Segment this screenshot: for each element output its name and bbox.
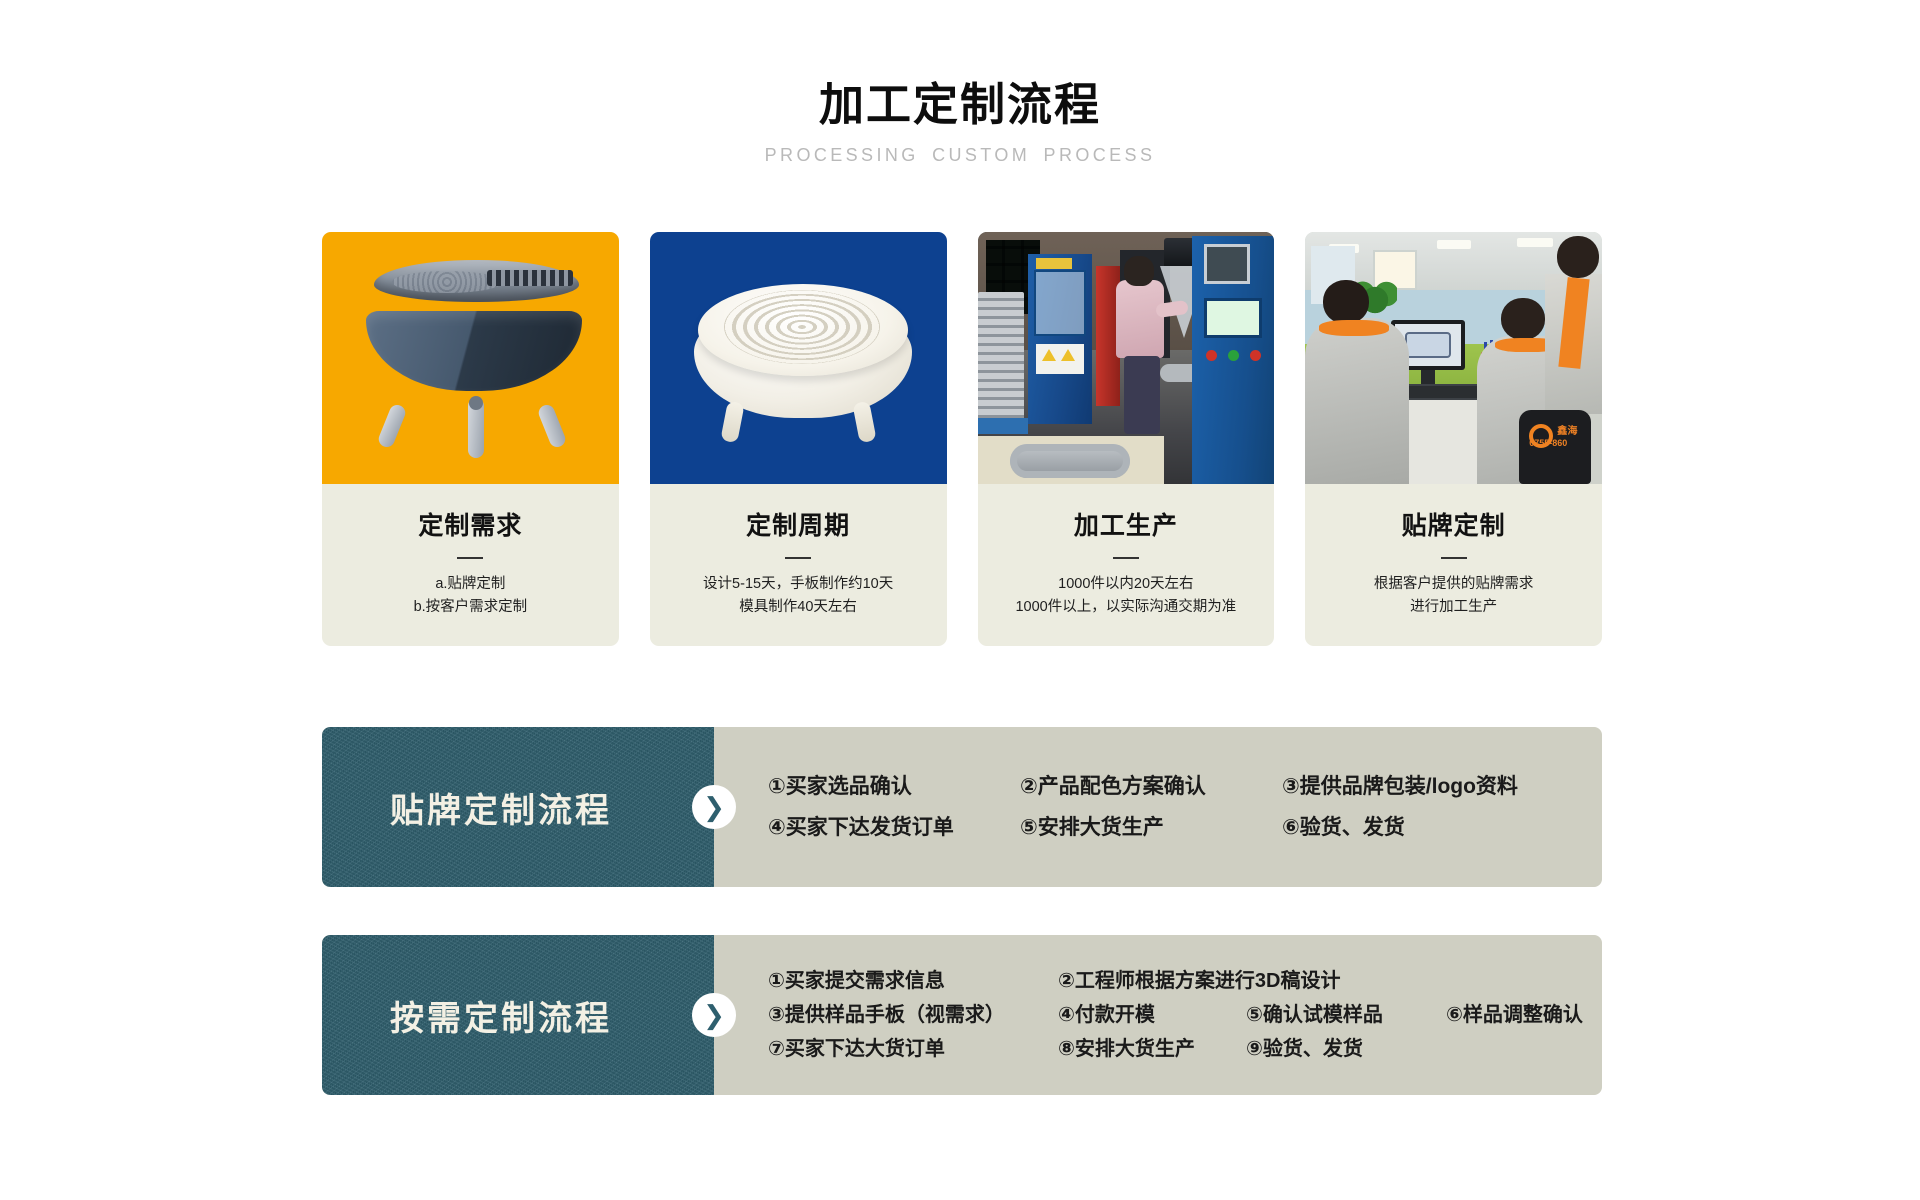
card-description-line: b.按客户需求定制 xyxy=(332,596,609,619)
card-title: 定制需求 xyxy=(332,506,609,542)
card-divider xyxy=(785,557,811,559)
factory-panel-button-green xyxy=(1228,350,1239,361)
ondemand-step-2: ②工程师根据方案进行3D稿设计 xyxy=(1058,964,1341,998)
oem-step-5: ⑤安排大货生产 xyxy=(1020,807,1282,848)
oem-process-banner: 贴牌定制流程 ❯ ①买家选品确认 ②产品配色方案确认 ③提供品牌包装/logo资… xyxy=(322,727,1602,887)
grill-lid-shape xyxy=(374,260,579,302)
watermark-phone: 0755-860 xyxy=(1529,438,1567,448)
ondemand-step-6: ⑥样品调整确认 xyxy=(1446,998,1583,1032)
ondemand-step-row: ①买家提交需求信息 ②工程师根据方案进行3D稿设计 xyxy=(768,964,1602,998)
card-description-line: 根据客户提供的贴牌需求 xyxy=(1315,573,1592,596)
ondemand-step-row: ⑦买家下达大货订单 ⑧安排大货生产 ⑨验货、发货 xyxy=(768,1032,1602,1066)
office-person-left-head xyxy=(1323,280,1369,324)
factory-panel-screen-top xyxy=(1204,244,1250,284)
ondemand-process-banner: 按需定制流程 ❯ ①买家提交需求信息 ②工程师根据方案进行3D稿设计 ③提供样品… xyxy=(322,935,1602,1095)
office-keyboard xyxy=(1401,384,1479,400)
factory-worker-head xyxy=(1124,256,1154,286)
office-person-right-head xyxy=(1557,236,1599,278)
grill-leg-right xyxy=(536,403,567,450)
office-cad-drawing xyxy=(1405,332,1451,358)
card-title: 加工生产 xyxy=(988,506,1265,542)
card-description-line: 1000件以上，以实际沟通交期为准 xyxy=(988,596,1265,619)
ondemand-step-9: ⑨验货、发货 xyxy=(1246,1032,1363,1066)
ondemand-step-4: ④付款开模 xyxy=(1058,998,1246,1032)
page-root: 加工定制流程 PROCESSING CUSTOM PROCESS 定制需求 a.… xyxy=(0,0,1920,1200)
card-description: a.贴牌定制 b.按客户需求定制 xyxy=(332,573,609,620)
card-description-line: 设计5-15天，手板制作约10天 xyxy=(660,573,937,596)
oem-step-2: ②产品配色方案确认 xyxy=(1020,766,1282,807)
card-title: 定制周期 xyxy=(660,506,937,542)
factory-panel-button-red xyxy=(1206,350,1217,361)
ondemand-step-7: ⑦买家下达大货订单 xyxy=(768,1032,1058,1066)
oem-step-row: ①买家选品确认 ②产品配色方案确认 ③提供品牌包装/logo资料 xyxy=(768,766,1602,807)
oem-step-6: ⑥验货、发货 xyxy=(1282,807,1405,848)
process-card-custom-requirement[interactable]: 定制需求 a.贴牌定制 b.按客户需求定制 xyxy=(322,232,619,646)
watermark-text: 鑫海 xyxy=(1557,422,1578,437)
oem-step-row: ④买家下达发货订单 ⑤安排大货生产 ⑥验货、发货 xyxy=(768,807,1602,848)
factory-product-stack xyxy=(978,292,1024,424)
factory-panel-screen-main xyxy=(1204,298,1262,338)
card-description-line: 进行加工生产 xyxy=(1315,596,1592,619)
factory-warning-sign xyxy=(1036,344,1084,374)
office-person-left-collar xyxy=(1319,320,1389,336)
card-body: 定制需求 a.贴牌定制 b.按客户需求定制 xyxy=(322,484,619,646)
ondemand-step-1: ①买家提交需求信息 xyxy=(768,964,1058,998)
office-monitor-stand xyxy=(1421,370,1435,384)
grill-bowl-shape xyxy=(366,311,582,391)
office-person-center-head xyxy=(1501,298,1545,340)
oem-step-3: ③提供品牌包装/logo资料 xyxy=(1282,766,1518,807)
process-card-oem[interactable]: 鑫海 0755-860 贴牌定制 根据客户提供的贴牌需求 进行加工生产 xyxy=(1305,232,1602,646)
office-ceiling-light xyxy=(1437,240,1471,249)
card-body: 定制周期 设计5-15天，手板制作约10天 模具制作40天左右 xyxy=(650,484,947,646)
ondemand-banner-label[interactable]: 按需定制流程 ❯ xyxy=(322,935,714,1095)
factory-machine-window xyxy=(1034,270,1086,336)
chevron-right-icon[interactable]: ❯ xyxy=(692,993,736,1037)
card-divider xyxy=(1113,557,1139,559)
card-description: 设计5-15天，手板制作约10天 模具制作40天左右 xyxy=(660,573,937,620)
card-description: 1000件以内20天左右 1000件以上，以实际沟通交期为准 xyxy=(988,573,1265,620)
card-description: 根据客户提供的贴牌需求 进行加工生产 xyxy=(1315,573,1592,620)
page-title: 加工定制流程 xyxy=(0,78,1920,131)
prototype-leg-left xyxy=(720,401,744,444)
card-divider xyxy=(1441,557,1467,559)
factory-molded-part xyxy=(1010,444,1130,478)
oem-step-4: ④买家下达发货订单 xyxy=(768,807,1020,848)
office-person-left-body xyxy=(1305,318,1409,484)
process-card-custom-cycle[interactable]: 定制周期 设计5-15天，手板制作约10天 模具制作40天左右 xyxy=(650,232,947,646)
ondemand-step-row: ③提供样品手板（视需求） ④付款开模 ⑤确认试模样品 ⑥样品调整确认 xyxy=(768,998,1602,1032)
card-description-line: 模具制作40天左右 xyxy=(660,596,937,619)
oem-step-list: ①买家选品确认 ②产品配色方案确认 ③提供品牌包装/logo资料 ④买家下达发货… xyxy=(714,727,1602,887)
grill-leg-center xyxy=(468,398,484,458)
oem-banner-label[interactable]: 贴牌定制流程 ❯ xyxy=(322,727,714,887)
card-image-office-photo: 鑫海 0755-860 xyxy=(1305,232,1602,484)
card-title: 贴牌定制 xyxy=(1315,506,1592,542)
factory-worker-body xyxy=(1116,280,1164,358)
prototype-maze-pattern xyxy=(724,290,880,364)
factory-worker-legs xyxy=(1124,356,1160,434)
page-header: 加工定制流程 PROCESSING CUSTOM PROCESS xyxy=(0,0,1920,166)
ondemand-banner-label-text: 按需定制流程 xyxy=(390,991,646,1040)
grill-leg-left xyxy=(376,403,407,450)
prototype-leg-right xyxy=(852,401,876,444)
card-divider xyxy=(457,557,483,559)
office-ceiling-light xyxy=(1517,238,1553,247)
chevron-right-icon[interactable]: ❯ xyxy=(692,785,736,829)
oem-banner-label-text: 贴牌定制流程 xyxy=(390,783,646,832)
ondemand-step-list: ①买家提交需求信息 ②工程师根据方案进行3D稿设计 ③提供样品手板（视需求） ④… xyxy=(714,935,1602,1095)
card-description-line: 1000件以内20天左右 xyxy=(988,573,1265,596)
card-body: 加工生产 1000件以内20天左右 1000件以上，以实际沟通交期为准 xyxy=(978,484,1275,646)
factory-pallet xyxy=(978,418,1028,434)
process-card-row: 定制需求 a.贴牌定制 b.按客户需求定制 定制周期 设 xyxy=(322,232,1602,646)
card-image-exploded-grill xyxy=(322,232,619,484)
card-body: 贴牌定制 根据客户提供的贴牌需求 进行加工生产 xyxy=(1305,484,1602,646)
ondemand-step-3: ③提供样品手板（视需求） xyxy=(768,998,1058,1032)
card-image-white-prototype xyxy=(650,232,947,484)
process-card-production[interactable]: 加工生产 1000件以内20天左右 1000件以上，以实际沟通交期为准 xyxy=(978,232,1275,646)
page-subtitle: PROCESSING CUSTOM PROCESS xyxy=(0,145,1920,166)
card-description-line: a.贴牌定制 xyxy=(332,573,609,596)
oem-step-1: ①买家选品确认 xyxy=(768,766,1020,807)
factory-machine-label xyxy=(1036,258,1072,269)
card-image-factory-photo xyxy=(978,232,1275,484)
office-watermark-logo: 鑫海 0755-860 xyxy=(1529,422,1601,452)
ondemand-step-5: ⑤确认试模样品 xyxy=(1246,998,1446,1032)
ondemand-step-8: ⑧安排大货生产 xyxy=(1058,1032,1246,1066)
factory-panel-button-red-2 xyxy=(1250,350,1261,361)
